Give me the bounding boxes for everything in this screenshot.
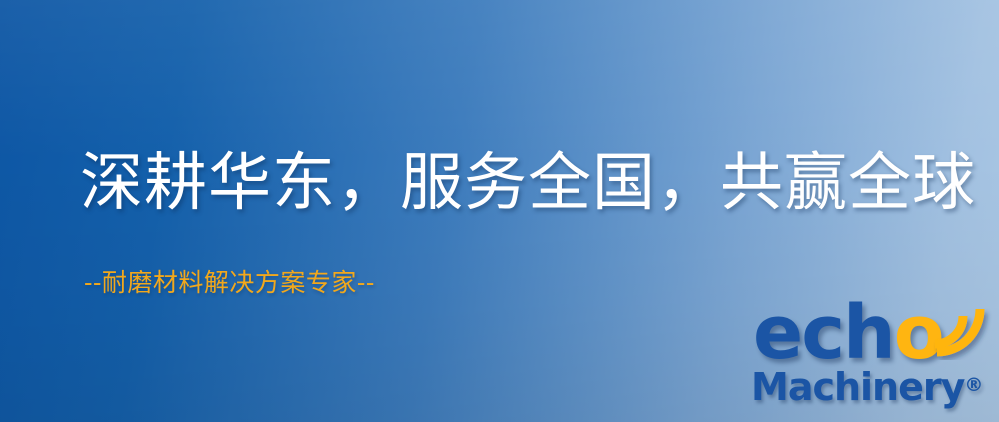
logo-tagline: Machinery® (751, 368, 983, 406)
logo-wordmark-prefix: ech (753, 290, 894, 376)
logo-tagline-text: Machinery (751, 365, 964, 409)
banner-subtitle: --耐磨材料解决方案专家-- (84, 268, 375, 298)
registered-trademark-icon: ® (964, 374, 983, 396)
company-logo[interactable]: echo Machinery® (745, 296, 999, 422)
signal-arcs-icon (931, 290, 999, 360)
banner-headline: 深耕华东，服务全国，共赢全球 (80, 150, 976, 216)
promo-banner: 深耕华东，服务全国，共赢全球 --耐磨材料解决方案专家-- echo Machi… (0, 0, 999, 422)
logo-wordmark: echo (753, 296, 943, 370)
